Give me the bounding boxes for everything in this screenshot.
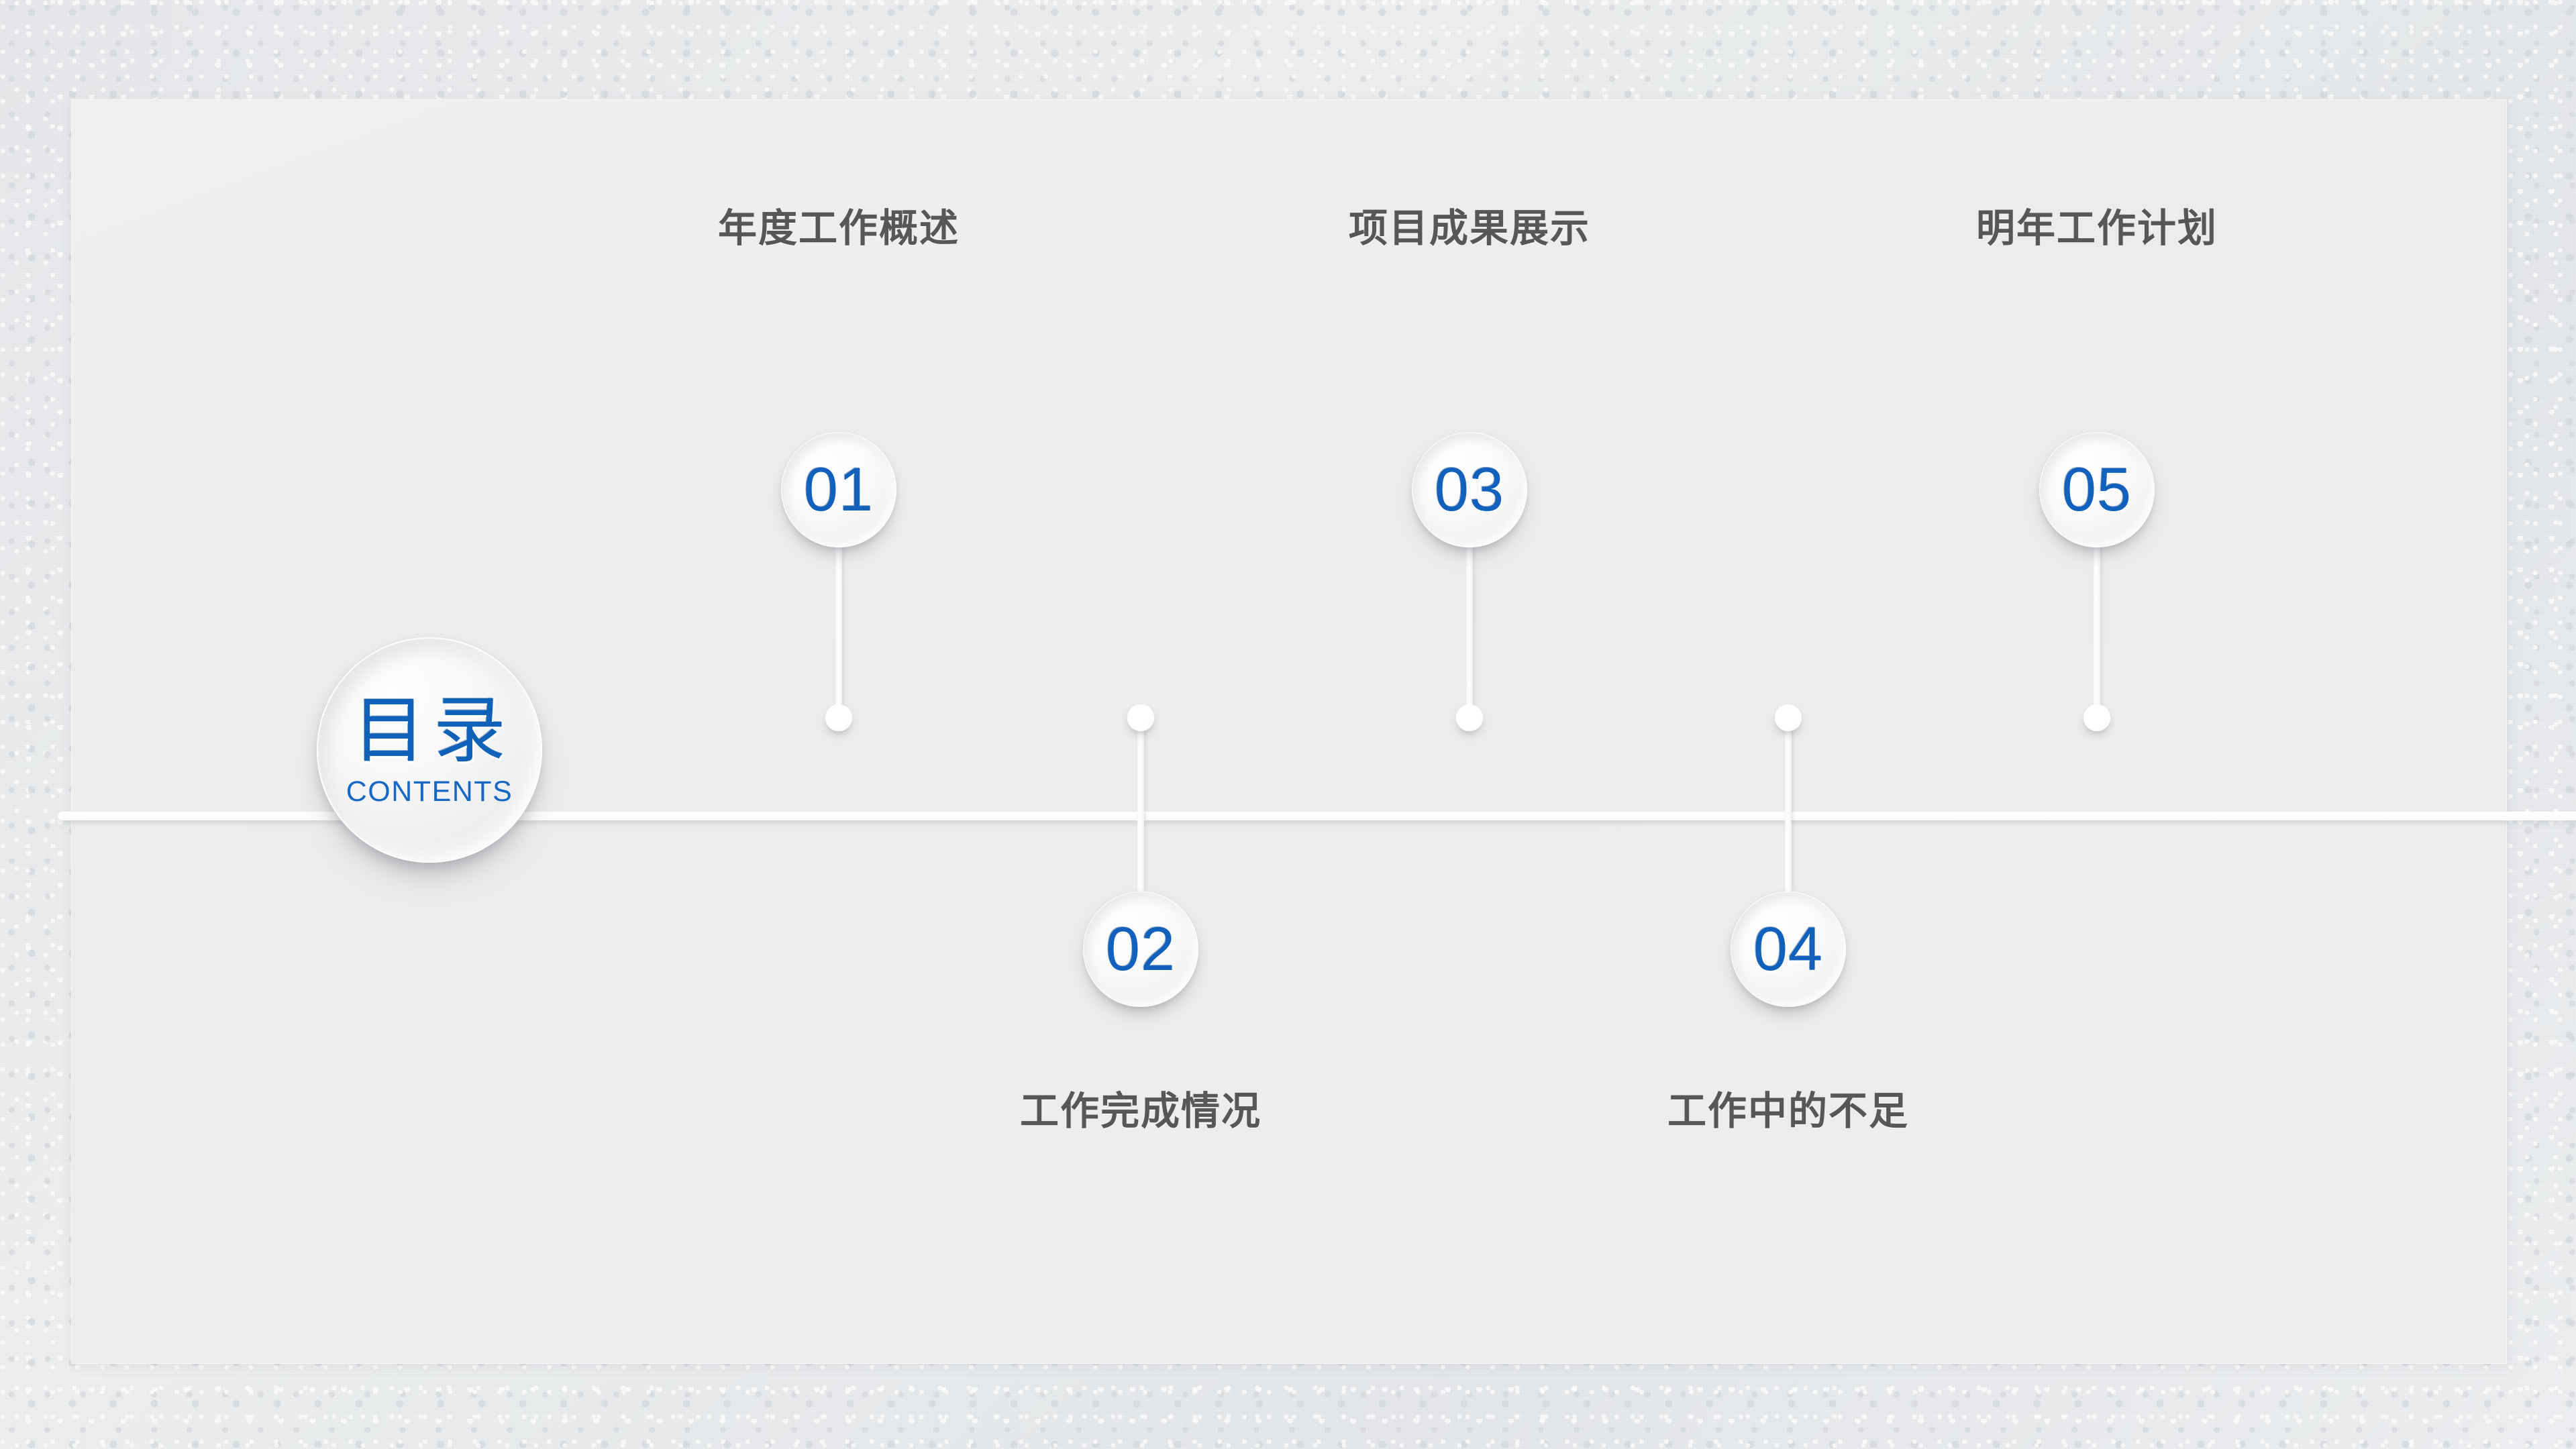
agenda-label-02: 工作完成情况 [1020,1079,1261,1136]
agenda-label-04: 工作中的不足 [1667,1079,1909,1136]
rail-node-01 [825,704,852,731]
rail-node-04 [1775,704,1802,731]
agenda-number-04: 04 [1753,918,1823,980]
agenda-bubble-05[interactable]: 05 [2039,432,2155,547]
agenda-number-02: 02 [1106,918,1176,980]
rail-node-05 [2083,704,2110,731]
agenda-bubble-02[interactable]: 02 [1083,892,1198,1007]
connector-stem-02 [1137,712,1144,892]
connector-stem-01 [835,541,842,719]
agenda-number-01: 01 [804,459,874,521]
contents-title-cn: 目录 [345,694,514,767]
contents-disc[interactable]: 目录 CONTENTS [317,637,542,863]
rail-node-02 [1127,704,1154,731]
agenda-label-05: 明年工作计划 [1976,197,2218,253]
agenda-label-03: 项目成果展示 [1349,197,1590,253]
agenda-bubble-03[interactable]: 03 [1412,432,1527,547]
connector-stem-04 [1785,712,1792,892]
connector-stem-03 [1466,541,1473,719]
agenda-number-03: 03 [1435,459,1504,521]
contents-title-en: CONTENTS [346,777,513,806]
agenda-bubble-01[interactable]: 01 [781,432,896,547]
rail-node-03 [1456,704,1483,731]
agenda-bubble-04[interactable]: 04 [1731,892,1846,1007]
agenda-label-01: 年度工作概述 [718,197,960,253]
agenda-number-05: 05 [2062,459,2132,521]
connector-stem-05 [2094,541,2100,719]
